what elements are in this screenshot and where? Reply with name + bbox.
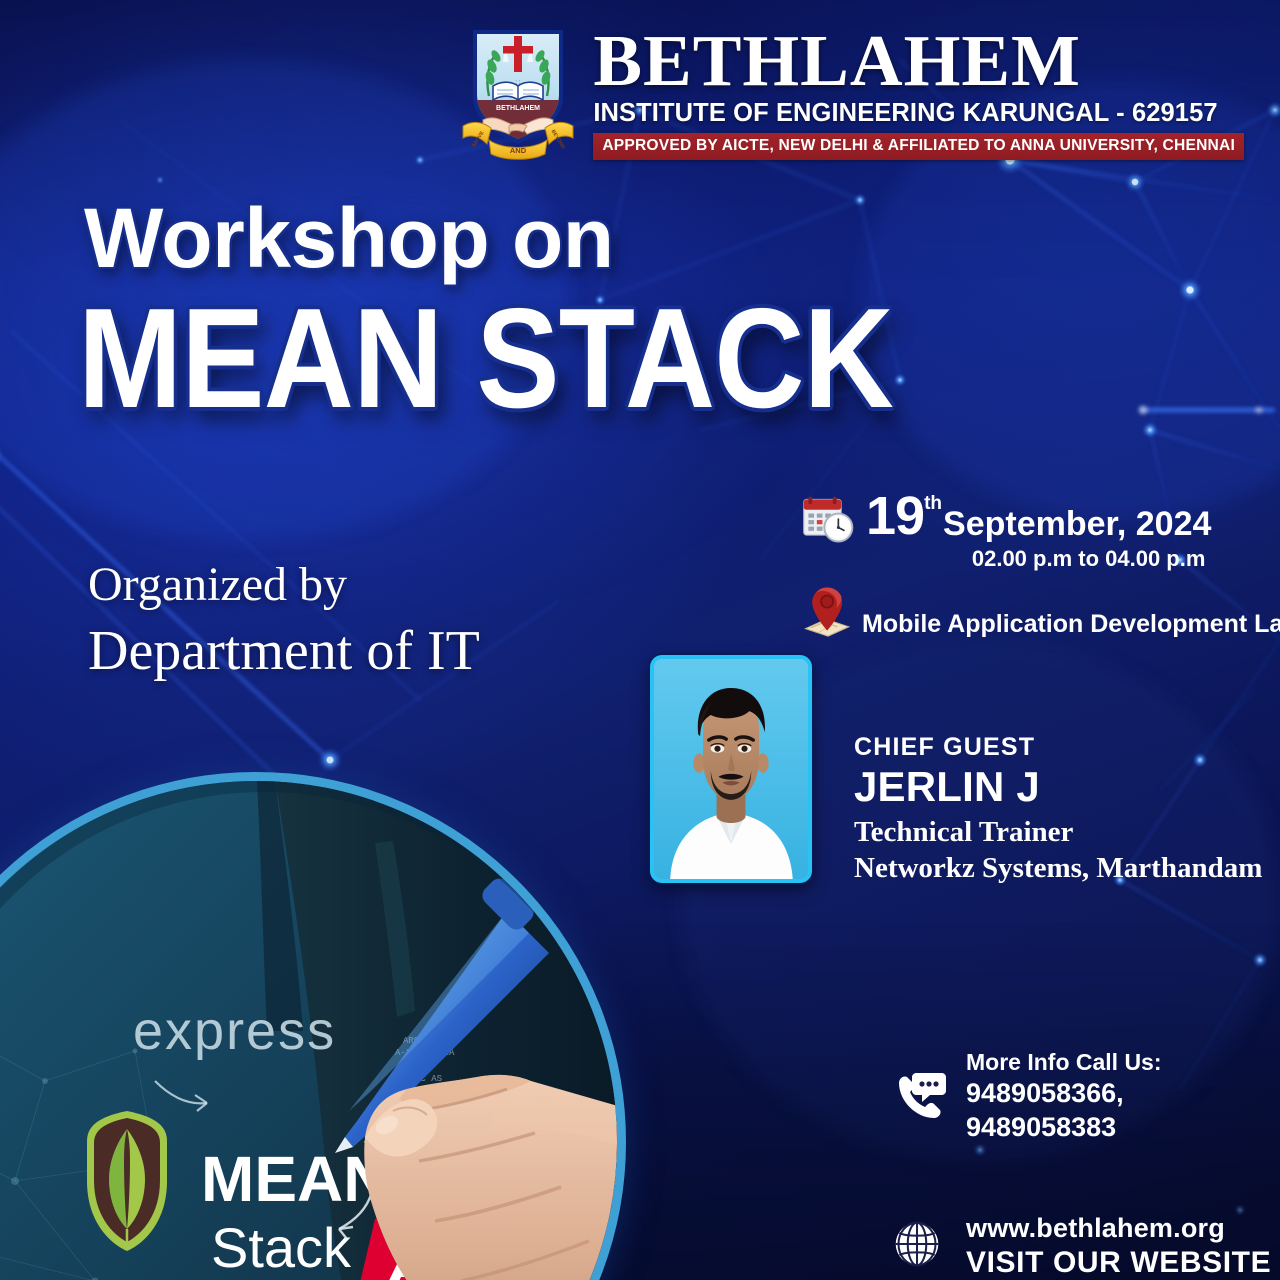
calendar-clock-icon [800, 492, 862, 555]
mean-stack-illustration: ARC HOT A-2CM C A2A AC AS 1C A5 3C CAC A… [0, 772, 626, 1280]
website-cta[interactable]: VISIT OUR WEBSITE [966, 1245, 1271, 1280]
website-url[interactable]: www.bethlahem.org [966, 1212, 1271, 1244]
stack-label: Stack [211, 1216, 352, 1279]
event-time: 02.00 p.m to 04.00 p.m [866, 546, 1211, 572]
chief-guest-block: CHIEF GUEST JERLIN J Technical Trainer N… [650, 655, 1262, 887]
page-title: MEAN STACK [78, 288, 893, 430]
website-row[interactable]: www.bethlahem.org VISIT OUR WEBSITE [892, 1212, 1280, 1280]
event-day: 19 [866, 492, 924, 542]
organized-by-label: Organized by [88, 558, 480, 612]
institute-subtitle: INSTITUTE OF ENGINEERING KARUNGAL - 6291… [593, 99, 1244, 128]
website-text: www.bethlahem.org VISIT OUR WEBSITE [966, 1212, 1271, 1280]
event-month-year: September, 2024 [943, 507, 1211, 541]
approval-banner: APPROVED BY AICTE, NEW DELHI & AFFILIATE… [593, 133, 1244, 160]
chief-guest-role: Technical Trainer [854, 814, 1262, 850]
event-day-suffix: th [924, 494, 942, 513]
workshop-kicker: Workshop on [84, 196, 614, 280]
phone-numbers: 9489058366, 9489058383 [966, 1077, 1280, 1145]
institute-name: BETHLAHEM [593, 26, 1244, 96]
college-crest-icon: .: :. BETHLAHEM [459, 22, 577, 162]
map-pin-icon [800, 578, 862, 645]
chief-guest-photo [650, 655, 812, 883]
poster-root: .: :. BETHLAHEM [0, 0, 1280, 1280]
organizing-department: Department of IT [88, 620, 480, 683]
event-date-text: 19 th September, 2024 02.00 p.m to 04.00… [862, 492, 1211, 572]
call-label: More Info Call Us: [966, 1048, 1280, 1077]
chief-guest-organization: Networkz Systems, Marthandam [854, 850, 1262, 886]
event-venue: Mobile Application Development Lab [862, 584, 1280, 639]
phone-contact-text: More Info Call Us: 9489058366, 948905838… [966, 1048, 1280, 1144]
event-venue-row: Mobile Application Development Lab [800, 578, 1280, 645]
phone-chat-icon [892, 1069, 946, 1123]
phone-contact-row: More Info Call Us: 9489058366, 948905838… [892, 1048, 1280, 1144]
organizer-block: Organized by Department of IT [88, 558, 480, 682]
hand [364, 1075, 626, 1280]
event-date-row: 19 th September, 2024 02.00 p.m to 04.00… [800, 492, 1280, 572]
globe-icon [892, 1219, 946, 1273]
chief-guest-details: CHIEF GUEST JERLIN J Technical Trainer N… [854, 655, 1262, 887]
express-label: express [133, 1001, 336, 1061]
mean-label: MEAN [201, 1143, 389, 1215]
contact-block: More Info Call Us: 9489058366, 948905838… [892, 1048, 1280, 1280]
chief-guest-name: JERLIN J [854, 764, 1262, 810]
chief-guest-label: CHIEF GUEST [854, 733, 1262, 762]
crest-motto: AND [510, 146, 527, 155]
event-meta-block: 19 th September, 2024 02.00 p.m to 04.00… [800, 492, 1280, 645]
institute-text-block: BETHLAHEM INSTITUTE OF ENGINEERING KARUN… [593, 22, 1244, 160]
crest-word: BETHLAHEM [496, 105, 540, 112]
institute-header: .: :. BETHLAHEM [459, 22, 1244, 162]
